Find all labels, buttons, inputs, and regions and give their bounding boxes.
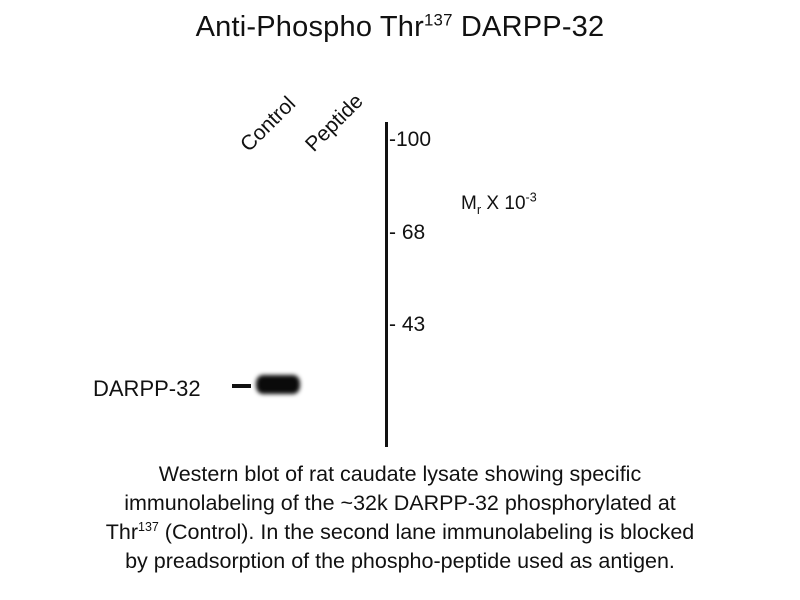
blot-panel: Control Peptide -100 - 68 - 43 Mr X 10-3… bbox=[0, 0, 800, 460]
band-pointer-dash-icon bbox=[232, 384, 251, 388]
mr-caption-prefix: M bbox=[461, 193, 477, 214]
blot-band-darpp32 bbox=[256, 375, 300, 394]
lane-label-control: Control bbox=[236, 92, 301, 157]
marker-tick-68: - 68 bbox=[389, 221, 425, 245]
western-blot-figure: Anti-Phospho Thr137 DARPP-32 Control Pep… bbox=[0, 0, 800, 600]
caption-line-3-superscript: 137 bbox=[138, 520, 159, 534]
lane-label-peptide: Peptide bbox=[301, 90, 368, 157]
figure-caption: Western blot of rat caudate lysate showi… bbox=[40, 460, 760, 576]
molecular-weight-axis-line bbox=[385, 122, 388, 447]
caption-line-3-prefix: Thr bbox=[106, 520, 138, 544]
caption-line-1: Western blot of rat caudate lysate showi… bbox=[40, 460, 760, 489]
caption-line-3: Thr137 (Control). In the second lane imm… bbox=[40, 518, 760, 547]
lane-control bbox=[250, 360, 314, 416]
marker-tick-100: -100 bbox=[389, 128, 431, 152]
caption-line-2: immunolabeling of the ~32k DARPP-32 phos… bbox=[40, 489, 760, 518]
marker-tick-43: - 43 bbox=[389, 313, 425, 337]
caption-line-3-suffix: (Control). In the second lane immunolabe… bbox=[159, 520, 694, 544]
mr-caption-superscript: -3 bbox=[526, 191, 537, 205]
mr-caption-mid: X 10 bbox=[481, 193, 525, 214]
lane-peptide bbox=[318, 360, 382, 416]
molecular-weight-axis-caption: Mr X 10-3 bbox=[461, 193, 537, 215]
band-label-darpp32: DARPP-32 bbox=[93, 376, 201, 402]
caption-line-4: by preadsorption of the phospho-peptide … bbox=[40, 547, 760, 576]
